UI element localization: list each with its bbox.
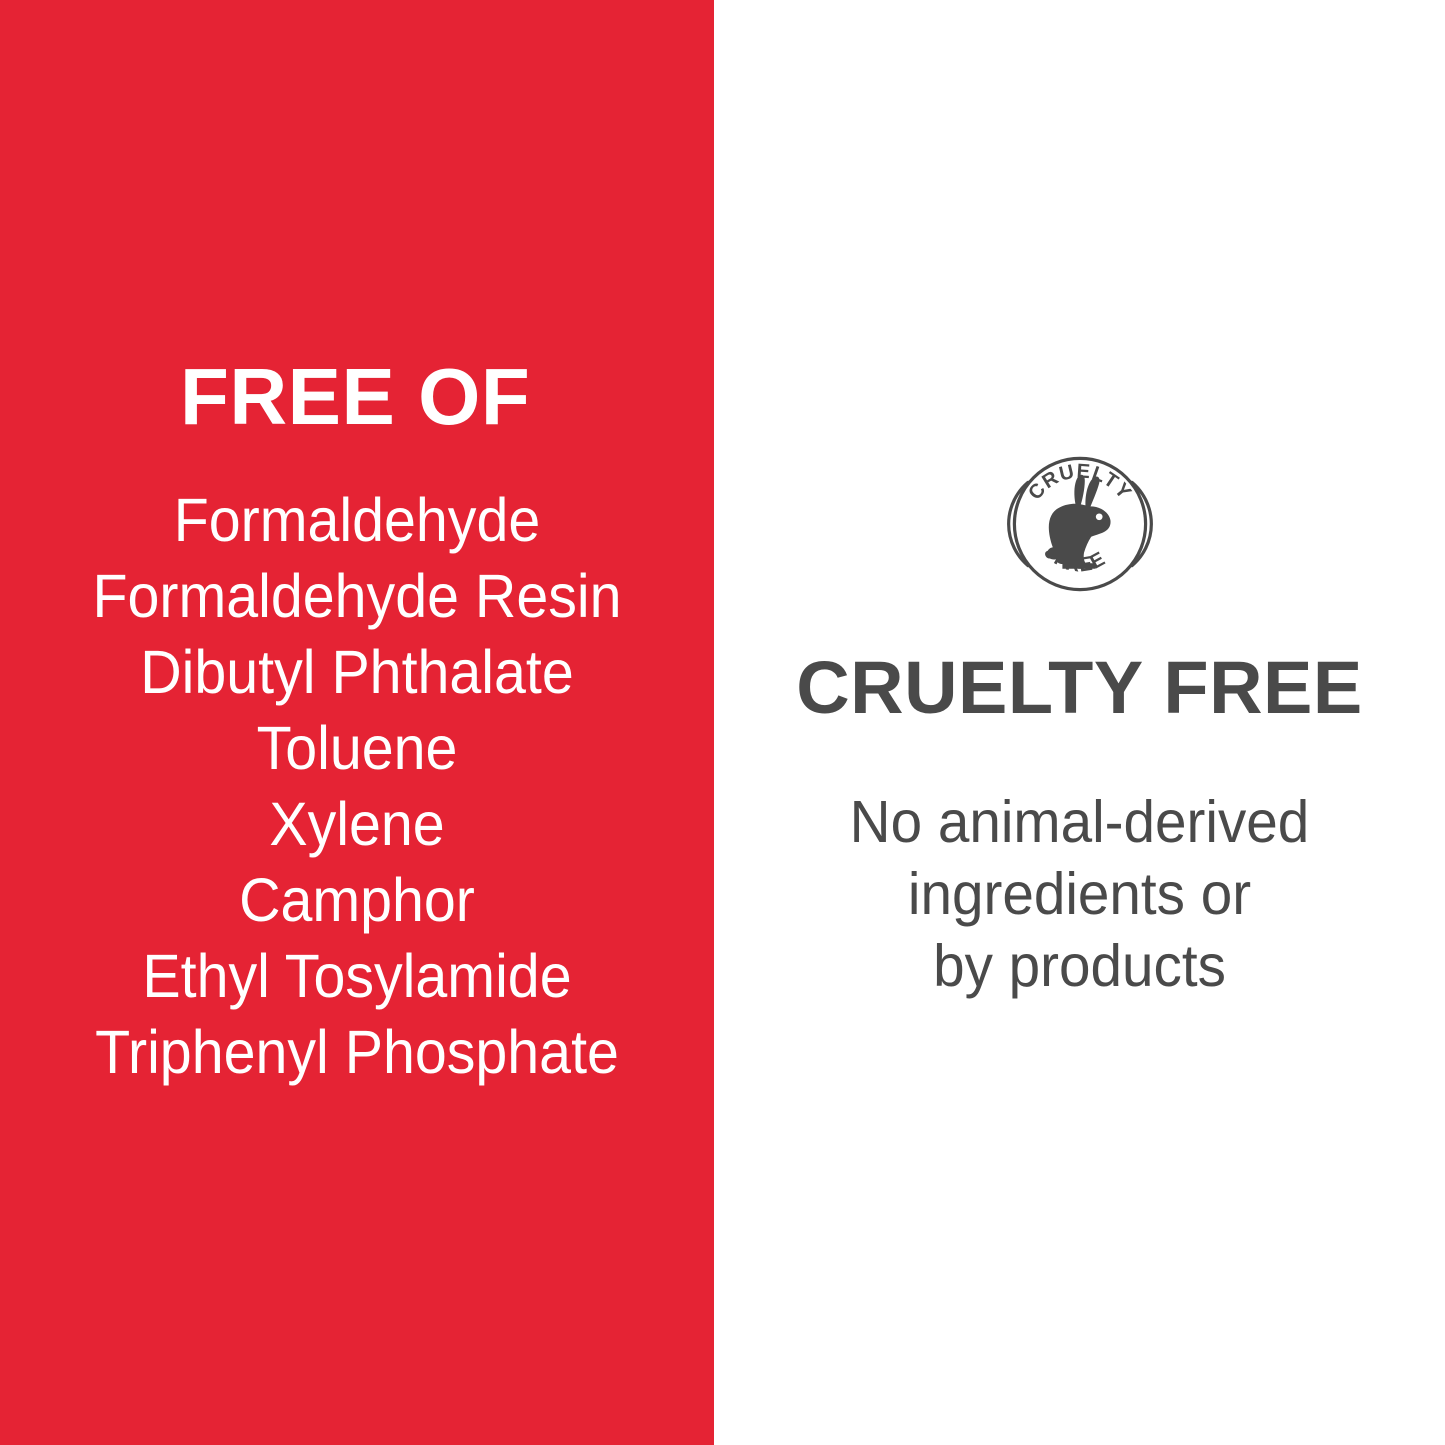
list-item: Ethyl Tosylamide (21, 938, 692, 1014)
list-item: Camphor (21, 862, 692, 938)
cruelty-free-badge: CRUELTY FREE (714, 444, 1445, 604)
description-line: No animal-derived (729, 786, 1431, 858)
free-of-panel: FREE OF Formaldehyde Formaldehyde Resin … (0, 0, 714, 1445)
list-item: Xylene (21, 786, 692, 862)
list-item: Dibutyl Phthalate (21, 634, 692, 710)
list-item: Triphenyl Phosphate (21, 1014, 692, 1090)
description-line: ingredients or (729, 858, 1431, 930)
free-of-heading: FREE OF (180, 355, 530, 439)
description-line: by products (729, 930, 1431, 1002)
product-claims-infographic: FREE OF Formaldehyde Formaldehyde Resin … (0, 0, 1445, 1445)
cruelty-free-description: No animal-derived ingredients or by prod… (714, 786, 1445, 1002)
cruelty-free-rabbit-badge-icon: CRUELTY FREE (1000, 444, 1160, 604)
cruelty-free-panel: CRUELTY FREE (714, 0, 1445, 1445)
free-of-ingredient-list: Formaldehyde Formaldehyde Resin Dibutyl … (0, 482, 714, 1090)
list-item: Formaldehyde Resin (21, 558, 692, 634)
list-item: Formaldehyde (21, 482, 692, 558)
cruelty-free-heading: CRUELTY FREE (714, 648, 1445, 728)
list-item: Toluene (21, 710, 692, 786)
